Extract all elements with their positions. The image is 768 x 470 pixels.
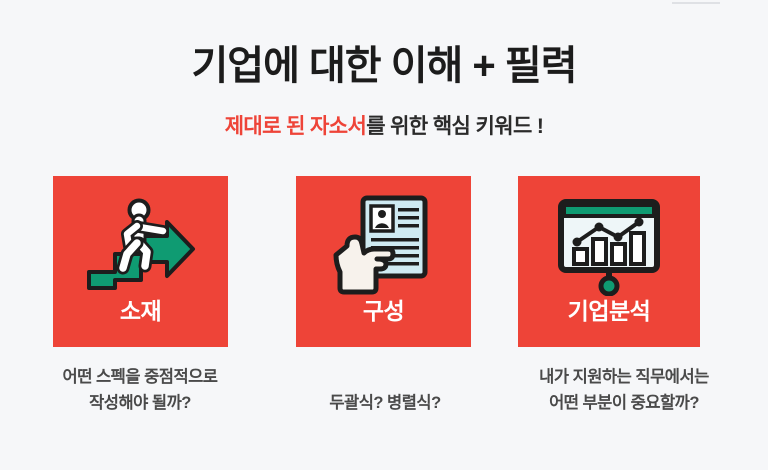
caption-row: 어떤 스펙을 중점적으로 작성해야 될까? 두괄식? 병렬식? 내가 지원하는 … <box>0 365 768 435</box>
caption-gieopbunseok: 내가 지원하는 직무에서는 어떤 부분이 중요할까? <box>484 365 764 416</box>
card-guseong[interactable]: 구성 <box>296 176 471 347</box>
card-label-gieopbunseok: 기업분석 <box>568 300 651 323</box>
person-climbing-stairs-arrow-icon <box>81 196 201 296</box>
card-sojae[interactable]: 소재 <box>53 176 228 347</box>
top-divider-rule <box>672 2 720 4</box>
subtitle-plain-text: 를 위한 핵심 키워드 ! <box>366 115 543 138</box>
slide-canvas: 기업에 대한 이해 + 필력 제대로 된 자소서를 위한 핵심 키워드 ! <box>0 0 768 470</box>
caption-line: 내가 지원하는 직무에서는 <box>484 365 764 391</box>
page-subtitle: 제대로 된 자소서를 위한 핵심 키워드 ! <box>0 114 768 139</box>
caption-line: 어떤 스펙을 중점적으로 <box>20 365 260 391</box>
caption-guseong: 두괄식? 병렬식? <box>265 391 505 417</box>
caption-line: 작성해야 될까? <box>20 391 260 417</box>
page-title: 기업에 대한 이해 + 필력 <box>0 44 768 88</box>
card-label-guseong: 구성 <box>363 300 404 323</box>
caption-sojae: 어떤 스펙을 중점적으로 작성해야 될까? <box>20 365 260 416</box>
presentation-chart-board-icon <box>555 196 663 296</box>
card-row: 소재 <box>53 176 700 347</box>
card-gieopbunseok[interactable]: 기업분석 <box>518 176 700 347</box>
caption-line: 두괄식? 병렬식? <box>265 391 505 417</box>
card-label-sojae: 소재 <box>120 300 161 323</box>
caption-line: 어떤 부분이 중요할까? <box>484 391 764 417</box>
subtitle-accent-text: 제대로 된 자소서 <box>225 115 367 138</box>
hand-holding-resume-icon <box>329 196 439 296</box>
